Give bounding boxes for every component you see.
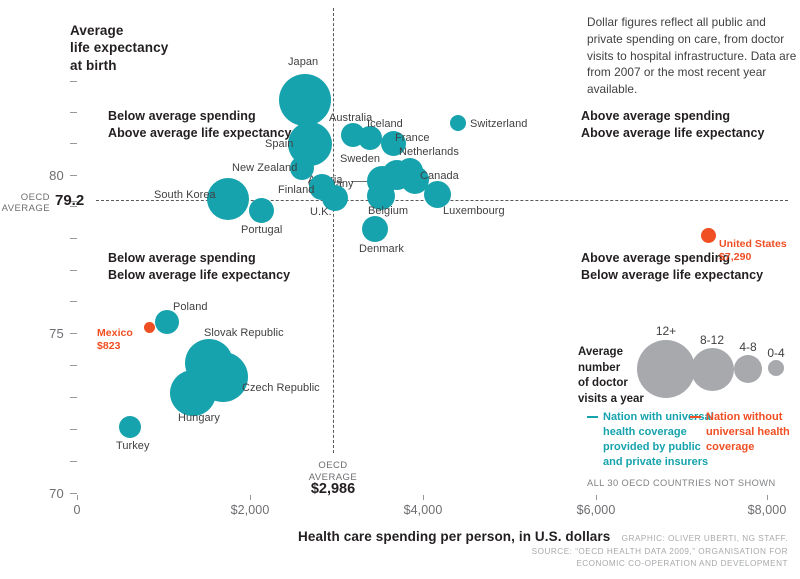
- label-south-korea: South Korea: [154, 189, 216, 201]
- y-tick-77: [70, 270, 77, 271]
- label-czech-republic: Czech Republic: [242, 382, 320, 394]
- y-tick-83: [70, 81, 77, 82]
- quadrant-bottom-right-line-2: Below average life expectancy: [581, 267, 763, 284]
- label-united-states-name: United States: [719, 238, 787, 251]
- x-tick-label-6000: $6,000: [566, 503, 626, 517]
- bubble-switzerland[interactable]: [450, 115, 466, 131]
- bubble-denmark[interactable]: [362, 216, 388, 242]
- bubble-hungary[interactable]: [170, 370, 216, 416]
- x-tick-6000: [596, 495, 597, 500]
- quadrant-label-top-right: Above average spending Above average lif…: [581, 108, 765, 141]
- x-tick-label-8000: $8,000: [737, 503, 797, 517]
- credit-line-1: GRAPHIC: OLIVER UBERTI, NG STAFF.: [528, 533, 788, 546]
- bubble-portugal[interactable]: [249, 198, 274, 223]
- legend-key-universal: Nation with universal health coverage pr…: [603, 410, 723, 469]
- label-sweden: Sweden: [340, 153, 380, 165]
- infographic-canvas: Average life expectancy at birth 80 75 7…: [0, 0, 800, 579]
- legend-dash-universal: [587, 416, 598, 418]
- label-portugal: Portugal: [241, 224, 282, 236]
- x-tick-label-2000: $2,000: [220, 503, 280, 517]
- label-mexico: Mexico $823: [97, 327, 133, 353]
- y-tick-label-80: 80: [30, 168, 64, 183]
- label-netherlands: Netherlands: [399, 146, 459, 158]
- label-finland: Finland: [278, 184, 314, 196]
- dollar-figures-note: Dollar figures reflect all public and pr…: [587, 14, 800, 98]
- y-tick-70: [70, 493, 77, 494]
- y-axis-title-line-1: Average: [70, 22, 168, 39]
- x-tick-label-0: 0: [47, 503, 107, 517]
- label-new-zealand: New Zealand: [232, 162, 297, 174]
- label-luxembourg: Luxembourg: [443, 205, 505, 217]
- label-mexico-value: $823: [97, 340, 133, 353]
- label-france: France: [395, 132, 430, 144]
- y-tick-82: [70, 112, 77, 113]
- label-poland: Poland: [173, 301, 208, 313]
- legend-size-title-line-2: number: [578, 361, 644, 377]
- label-uk: U.K.: [310, 206, 332, 218]
- label-slovak-republic: Slovak Republic: [204, 327, 284, 339]
- quadrant-bottom-left-line-2: Below average life expectancy: [108, 267, 290, 284]
- oecd-average-y-caption-line-1: OECD: [0, 192, 50, 203]
- bubble-sweden[interactable]: [364, 136, 377, 149]
- quadrant-top-right-line-2: Above average life expectancy: [581, 125, 765, 142]
- label-japan: Japan: [288, 56, 318, 68]
- oecd-average-y-caption: OECD AVERAGE: [0, 192, 50, 214]
- label-iceland: Iceland: [367, 118, 403, 130]
- legend-bubble-12-plus: [637, 340, 695, 398]
- quadrant-bottom-left-line-1: Below average spending: [108, 250, 290, 267]
- bubble-luxembourg[interactable]: [424, 181, 451, 208]
- legend-size-label-0-4: 0-4: [756, 346, 796, 360]
- legend-size-title-line-3: of doctor: [578, 376, 644, 392]
- label-spain: Spain: [265, 138, 293, 150]
- label-turkey: Turkey: [116, 440, 150, 452]
- credit-line-3: ECONOMIC CO-OPERATION AND DEVELOPMENT: [528, 558, 788, 571]
- y-tick-75: [70, 333, 77, 334]
- quadrant-label-top-left: Below average spending Above average lif…: [108, 108, 292, 141]
- oecd-average-y-caption-line-2: AVERAGE: [0, 203, 50, 214]
- y-tick-74: [70, 365, 77, 366]
- y-tick-78: [70, 238, 77, 239]
- legend-dash-no-coverage: [690, 416, 701, 418]
- label-united-states-value: $7,290: [719, 251, 787, 264]
- y-tick-80: [70, 175, 77, 176]
- oecd-average-y-value: 79.2: [55, 192, 84, 209]
- y-axis-title-line-2: life expectancy: [70, 39, 168, 56]
- oecd-average-x-value: $2,986: [288, 481, 378, 497]
- legend-bubble-8-12: [691, 348, 734, 391]
- x-tick-4000: [423, 495, 424, 500]
- bubble-united-states[interactable]: [701, 228, 716, 243]
- y-tick-72: [70, 429, 77, 430]
- y-tick-73: [70, 397, 77, 398]
- credit-line-2: SOURCE: “OECD HEALTH DATA 2009,” ORGANIS…: [528, 546, 788, 559]
- legend-size-label-12-plus: 12+: [644, 324, 688, 338]
- label-hungary: Hungary: [178, 412, 220, 424]
- legend-size-title-line-4: visits a year: [578, 392, 644, 408]
- bubble-poland[interactable]: [155, 310, 179, 334]
- legend-size-title: Average number of doctor visits a year: [578, 345, 644, 407]
- label-switzerland: Switzerland: [470, 118, 527, 130]
- x-tick-0: [77, 495, 78, 500]
- quadrant-top-right-line-1: Above average spending: [581, 108, 765, 125]
- x-tick-label-4000: $4,000: [393, 503, 453, 517]
- label-australia: Australia: [329, 112, 372, 124]
- legend-footnote: ALL 30 OECD COUNTRIES NOT SHOWN: [587, 478, 776, 488]
- y-axis-title: Average life expectancy at birth: [70, 22, 168, 74]
- x-tick-8000: [767, 495, 768, 500]
- y-axis-title-line-3: at birth: [70, 57, 168, 74]
- y-tick-76: [70, 301, 77, 302]
- label-mexico-name: Mexico: [97, 327, 133, 340]
- y-tick-label-75: 75: [30, 326, 64, 341]
- legend-size-title-line-1: Average: [578, 345, 644, 361]
- bubble-mexico[interactable]: [144, 322, 155, 333]
- legend-bubble-0-4: [768, 360, 784, 376]
- oecd-average-spending-line: [333, 8, 334, 453]
- bubble-turkey[interactable]: [119, 416, 141, 438]
- oecd-average-x-caption: OECD AVERAGE: [288, 460, 378, 483]
- quadrant-top-left-line-2: Above average life expectancy: [108, 125, 292, 142]
- credit-block: GRAPHIC: OLIVER UBERTI, NG STAFF. SOURCE…: [528, 533, 788, 571]
- quadrant-label-bottom-left: Below average spending Below average lif…: [108, 250, 290, 283]
- label-united-states: United States $7,290: [719, 238, 787, 264]
- y-tick-71: [70, 461, 77, 462]
- y-tick-81: [70, 143, 77, 144]
- x-tick-2000: [250, 495, 251, 500]
- y-tick-label-70: 70: [30, 486, 64, 501]
- label-denmark: Denmark: [359, 243, 404, 255]
- legend-key-no-coverage: Nation without universal health coverage: [706, 410, 800, 455]
- bubble-japan[interactable]: [279, 74, 331, 126]
- oecd-average-x-caption-line-1: OECD: [288, 460, 378, 472]
- quadrant-top-left-line-1: Below average spending: [108, 108, 292, 125]
